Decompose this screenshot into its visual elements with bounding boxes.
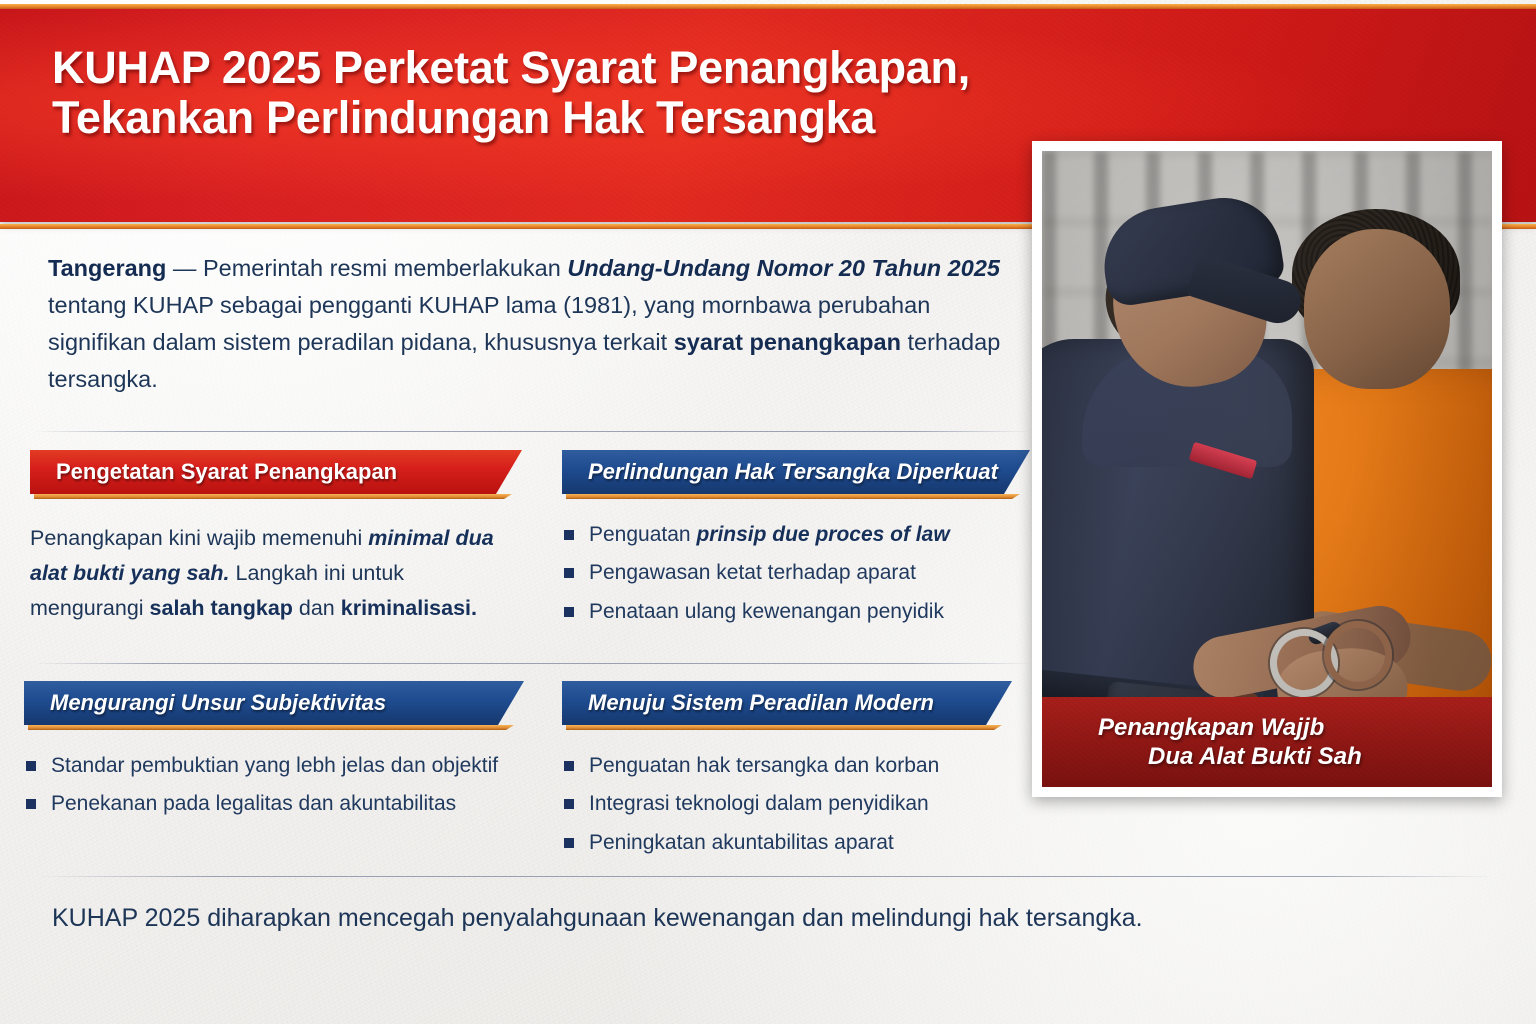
card-2-ribbon-header: Perlindungan Hak Tersangka Diperkuat bbox=[562, 450, 1030, 494]
card-2-body: Penguatan prinsip due proces of law Peng… bbox=[562, 521, 1022, 626]
intro-law-name: Undang-Undang Nomor 20 Tahun 2025 bbox=[567, 255, 1000, 281]
card-pengetatan-syarat-penangkapan: Pengetatan Syarat Penangkapan Penangkapa… bbox=[30, 450, 530, 625]
card-3-ribbon-header: Mengurangi Unsur Subjektivitas bbox=[24, 681, 524, 725]
card-3-list: Standar pembuktian yang lebh jelas dan o… bbox=[24, 752, 540, 819]
card-2-title: Perlindungan Hak Tersangka Diperkuat bbox=[588, 459, 998, 485]
photo-caption: Penangkapan Wajjb Dua Alat Bukti Sah bbox=[1042, 697, 1492, 787]
card-2-item-1-em: prinsip due proces of law bbox=[696, 523, 949, 546]
intro-paragraph: Tangerang — Pemerintah resmi memberlakuk… bbox=[48, 250, 1023, 399]
card-perlindungan-hak-tersangka-diperkuat: Perlindungan Hak Tersangka Diperkuat Pen… bbox=[562, 450, 1032, 636]
card-1-body: Penangkapan kini wajib memenuhi minimal … bbox=[30, 521, 512, 625]
card-1-em-3: kriminalisasi. bbox=[341, 596, 477, 620]
card-1-title: Pengetatan Syarat Penangkapan bbox=[56, 459, 397, 485]
intro-text-1: Pemerintah resmi memberlakukan bbox=[203, 255, 567, 281]
divider-footer bbox=[38, 876, 1494, 877]
card-4-ribbon-header: Menuju Sistem Peradilan Modern bbox=[562, 681, 1012, 725]
divider-mid bbox=[34, 663, 1032, 664]
list-item: Pengawasan ketat terhadap aparat bbox=[562, 559, 1022, 587]
intro-emphasis: syarat penangkapan bbox=[674, 329, 901, 355]
card-3-title: Mengurangi Unsur Subjektivitas bbox=[50, 690, 386, 716]
footer-text: KUHAP 2025 diharapkan mencegah penyalahg… bbox=[52, 902, 1452, 935]
header-title-block: KUHAP 2025 Perketat Syarat Penangkapan, … bbox=[52, 43, 1536, 144]
card-3-ribbon-underline bbox=[28, 725, 514, 730]
card-3-item-2-prefix: Penekanan pada legalitas dan akuntabilit… bbox=[51, 792, 456, 815]
card-2-item-3-prefix: Penataan ulang kewenangan penyidik bbox=[589, 600, 944, 623]
list-item: Standar pembuktian yang lebh jelas dan o… bbox=[24, 752, 540, 780]
list-item: Integrasi teknologi dalam penyidikan bbox=[562, 790, 1022, 818]
card-4-item-3-prefix: Peningkatan akuntabilitas aparat bbox=[589, 831, 894, 854]
card-4-body: Penguatan hak tersangka dan korban Integ… bbox=[562, 752, 1022, 857]
card-1-paragraph: Penangkapan kini wajib memenuhi minimal … bbox=[30, 521, 512, 625]
card-3-item-1-prefix: Standar pembuktian yang lebh jelas dan o… bbox=[51, 754, 498, 777]
list-item: Penguatan prinsip due proces of law bbox=[562, 521, 1022, 549]
card-1-text-3: dan bbox=[293, 596, 341, 620]
photo-vignette bbox=[1042, 151, 1492, 787]
intro-dateline: Tangerang bbox=[48, 255, 166, 281]
arrest-photo: Penangkapan Wajjb Dua Alat Bukti Sah bbox=[1042, 151, 1492, 787]
card-4-title: Menuju Sistem Peradilan Modern bbox=[588, 690, 934, 716]
card-1-ribbon-header: Pengetatan Syarat Penangkapan bbox=[30, 450, 522, 494]
list-item: Penguatan hak tersangka dan korban bbox=[562, 752, 1022, 780]
card-1-text-1: Penangkapan kini wajib memenuhi bbox=[30, 526, 368, 550]
card-1-ribbon-underline bbox=[34, 494, 512, 499]
list-item: Penekanan pada legalitas dan akuntabilit… bbox=[24, 790, 540, 818]
card-3-body: Standar pembuktian yang lebh jelas dan o… bbox=[24, 752, 540, 819]
card-4-item-2-prefix: Integrasi teknologi dalam penyidikan bbox=[589, 792, 929, 815]
intro-dash: — bbox=[166, 255, 203, 281]
card-2-item-1-prefix: Penguatan bbox=[589, 523, 696, 546]
card-menuju-sistem-peradilan-modern: Menuju Sistem Peradilan Modern Penguatan… bbox=[562, 681, 1032, 867]
divider-top bbox=[34, 431, 1032, 432]
photo-caption-line-2: Dua Alat Bukti Sah bbox=[1098, 742, 1492, 771]
page-title-line-1: KUHAP 2025 Perketat Syarat Penangkapan, bbox=[52, 43, 1536, 93]
card-4-list: Penguatan hak tersangka dan korban Integ… bbox=[562, 752, 1022, 857]
card-1-em-2: salah tangkap bbox=[150, 596, 293, 620]
page-title-line-2: Tekankan Perlindungan Hak Tersangka bbox=[52, 93, 1536, 143]
card-2-item-2-prefix: Pengawasan ketat terhadap aparat bbox=[589, 561, 916, 584]
card-4-item-1-prefix: Penguatan hak tersangka dan korban bbox=[589, 754, 939, 777]
card-2-list: Penguatan prinsip due proces of law Peng… bbox=[562, 521, 1022, 626]
list-item: Peningkatan akuntabilitas aparat bbox=[562, 829, 1022, 857]
card-4-ribbon-underline bbox=[566, 725, 1002, 730]
list-item: Penataan ulang kewenangan penyidik bbox=[562, 598, 1022, 626]
photo-card: Penangkapan Wajjb Dua Alat Bukti Sah bbox=[1032, 141, 1502, 797]
photo-caption-line-1: Penangkapan Wajjb bbox=[1098, 713, 1492, 742]
card-2-ribbon-underline bbox=[566, 494, 1020, 499]
infographic-page: KUHAP 2025 Perketat Syarat Penangkapan, … bbox=[0, 0, 1536, 1024]
card-mengurangi-unsur-subjektivitas: Mengurangi Unsur Subjektivitas Standar p… bbox=[24, 681, 534, 829]
